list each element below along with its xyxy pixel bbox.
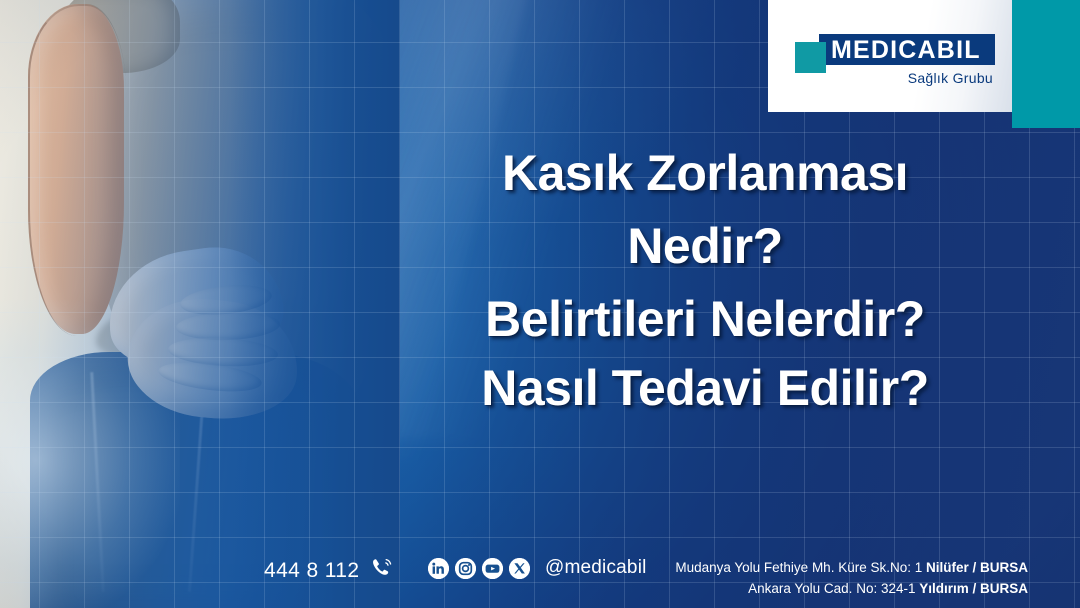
headline-line-1: Kasık Zorlanması (360, 148, 1050, 199)
footer-bar: 444 8 112 (0, 530, 1080, 608)
logo-lockup: MEDICABIL Sağlık Grubu (795, 34, 995, 96)
headline-line-3: Belirtileri Nelerdir? (360, 294, 1050, 345)
headline-line-4: Nasıl Tedavi Edilir? (360, 363, 1050, 414)
address-line-1-district: Nilüfer / BURSA (926, 560, 1028, 575)
linkedin-icon[interactable] (428, 558, 449, 579)
address-block: Mudanya Yolu Fethiye Mh. Küre Sk.No: 1 N… (675, 558, 1028, 600)
social-links[interactable]: @medicabil (428, 557, 647, 579)
address-line-2-street: Ankara Yolu Cad. No: 324-1 (748, 581, 919, 596)
logo-wordmark: MEDICABIL (831, 36, 981, 65)
medicabil-info-banner: MEDICABIL Sağlık Grubu Kasık Zorlanması … (0, 0, 1080, 608)
social-handle: @medicabil (545, 557, 647, 579)
x-twitter-icon[interactable] (509, 558, 530, 579)
address-line-1-street: Mudanya Yolu Fethiye Mh. Küre Sk.No: 1 (675, 560, 926, 575)
youtube-icon[interactable] (482, 558, 503, 579)
phone-block[interactable]: 444 8 112 (264, 556, 394, 585)
phone-icon (370, 556, 394, 585)
phone-number: 444 8 112 (264, 559, 359, 583)
headline-block: Kasık Zorlanması Nedir? Belirtileri Nele… (360, 148, 1050, 414)
logo-teal-square-icon (795, 42, 826, 73)
logo-tagline: Sağlık Grubu (908, 70, 993, 86)
address-line-1: Mudanya Yolu Fethiye Mh. Küre Sk.No: 1 N… (675, 558, 1028, 579)
address-line-2-district: Yıldırım / BURSA (919, 581, 1028, 596)
headline-line-2: Nedir? (360, 221, 1050, 272)
logo-teal-accent-bar (1012, 0, 1080, 128)
address-line-2: Ankara Yolu Cad. No: 324-1 Yıldırım / BU… (675, 579, 1028, 600)
instagram-icon[interactable] (455, 558, 476, 579)
